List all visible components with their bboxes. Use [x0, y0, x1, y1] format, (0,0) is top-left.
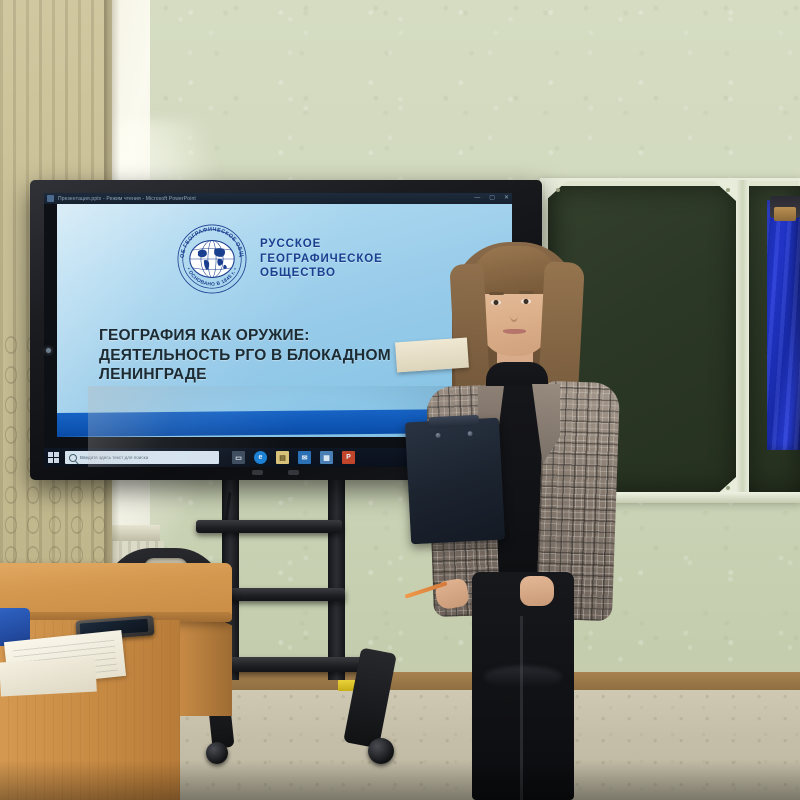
chalkboard-screw: [556, 188, 560, 192]
clipboard-paper: [395, 338, 469, 373]
store-icon[interactable]: ▦: [320, 451, 333, 464]
mouth: [503, 329, 526, 334]
panel-button[interactable]: [252, 470, 263, 475]
close-button[interactable]: ✕: [504, 195, 509, 201]
wordmark-line-2: ГЕОГРАФИЧЕСКОЕ: [260, 252, 383, 267]
search-icon: [69, 454, 77, 462]
eye-left: [491, 300, 501, 305]
rgo-logo: РУССКОЕ ГЕОГРАФИЧЕСКОЕ ОБЩЕСТВО • ОСНОВА…: [175, 222, 383, 296]
banner-emblem: [774, 207, 796, 221]
cart-shelf-top: [196, 520, 342, 533]
clipboard-rivet: [467, 431, 472, 436]
mail-icon[interactable]: ✉: [298, 451, 311, 464]
panel-button[interactable]: [288, 470, 299, 475]
banner-fold-shading: [767, 200, 800, 450]
powerpoint-titlebar-icon: [47, 195, 54, 202]
clipboard-clamp: [429, 415, 480, 429]
chalkboard-divider: [736, 180, 749, 498]
clipboard-rivet: [435, 433, 440, 438]
paper-stack-lower: [0, 658, 97, 697]
trouser-highlight: [484, 666, 562, 688]
chalkboard-screw: [726, 188, 730, 192]
search-input[interactable]: Введите здесь текст для поиска: [65, 451, 219, 464]
task-view-icon[interactable]: ▭: [232, 451, 245, 464]
wordmark-line-1: РУССКОЕ: [260, 237, 383, 252]
rgo-wordmark: РУССКОЕ ГЕОГРАФИЧЕСКОЕ ОБЩЕСТВО: [260, 237, 383, 281]
eyebrow-left: [489, 292, 504, 295]
hand-right: [520, 576, 554, 606]
powerpoint-icon[interactable]: P: [342, 451, 355, 464]
presenter-person: [400, 236, 632, 800]
start-button[interactable]: [48, 452, 59, 463]
app-titlebar[interactable]: Презентация.pptx - Режим чтения - Micros…: [44, 193, 512, 204]
titlebar-text: Презентация.pptx - Режим чтения - Micros…: [58, 196, 196, 202]
clipboard: [405, 418, 505, 545]
power-led: [46, 348, 51, 353]
rgo-globe-emblem: РУССКОЕ ГЕОГРАФИЧЕСКОЕ ОБЩЕСТВО • ОСНОВА…: [175, 222, 249, 296]
chalkboard-screw: [726, 486, 730, 490]
minimize-button[interactable]: —: [474, 195, 480, 201]
eye-right: [521, 299, 531, 304]
nose: [510, 308, 518, 322]
search-placeholder: Введите здесь текст для поиска: [80, 455, 148, 460]
file-explorer-icon[interactable]: ▤: [276, 451, 289, 464]
edge-browser-icon[interactable]: e: [254, 451, 267, 464]
eyebrow-right: [519, 291, 534, 294]
window-controls[interactable]: — ▢ ✕: [474, 195, 509, 201]
wordmark-line-3: ОБЩЕСТВО: [260, 266, 383, 281]
classroom-scene: Презентация.pptx - Режим чтения - Micros…: [0, 0, 800, 800]
taskbar-app-icons[interactable]: ▭ e ▤ ✉ ▦ P: [232, 451, 355, 464]
bottom-shadow: [0, 760, 800, 800]
cart-post-right: [328, 480, 345, 680]
maximize-button[interactable]: ▢: [489, 195, 495, 201]
